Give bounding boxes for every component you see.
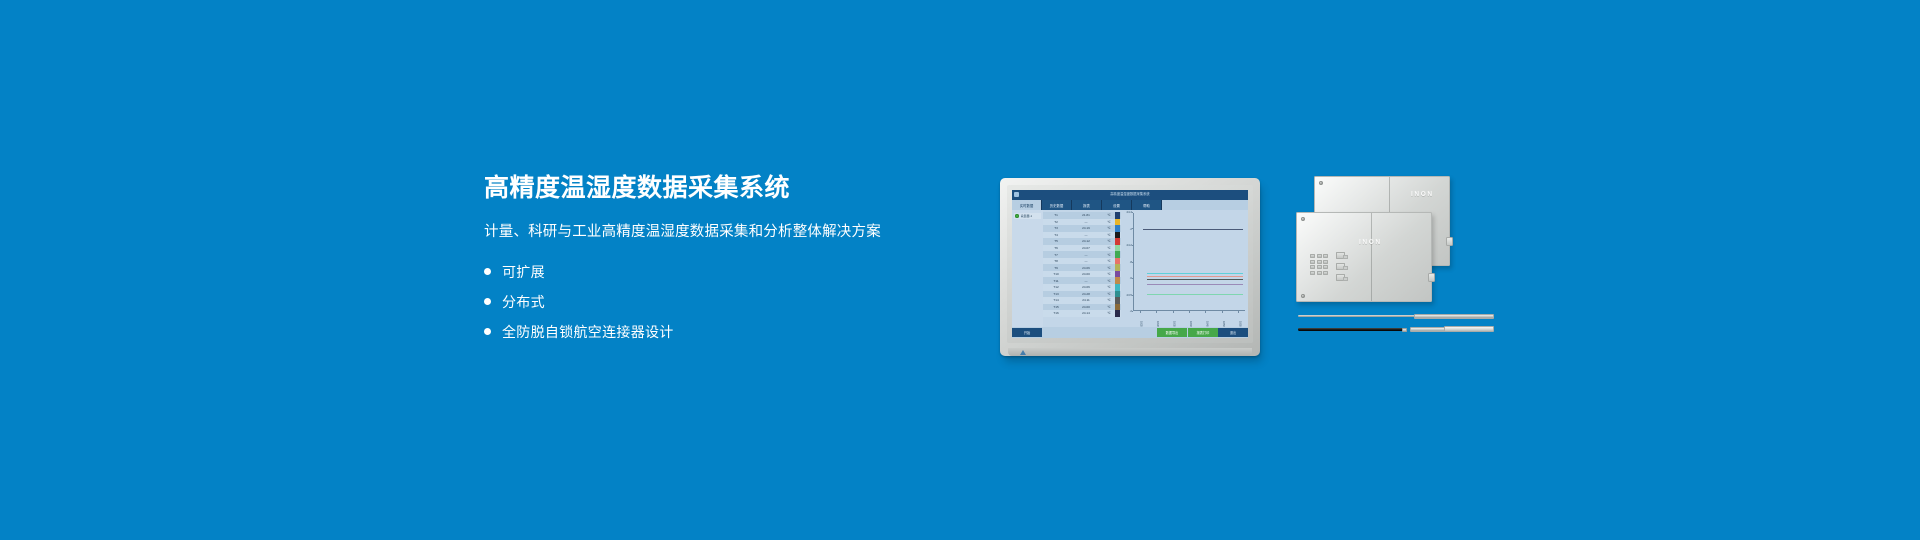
- channel-unit: ℃: [1103, 259, 1115, 263]
- feature-label: 可扩展: [502, 262, 545, 282]
- port-icon: [1317, 271, 1322, 275]
- tab-history-data[interactable]: 历史数据: [1042, 200, 1072, 210]
- module-slot-group: [1336, 252, 1345, 281]
- port-icon: [1310, 271, 1315, 275]
- chart-series-line: [1147, 279, 1242, 280]
- aviation-connector: [1410, 327, 1446, 333]
- x-axis-tick-label: 10:30: [1156, 321, 1159, 327]
- channel-name: T13: [1043, 292, 1069, 296]
- tab-help[interactable]: 帮助: [1132, 200, 1162, 210]
- sidebar-item-label: 采集器-1: [1021, 214, 1033, 218]
- chart-series-line: [1147, 284, 1242, 285]
- bottom-toolbar: 开始 数据导出 报表打印 退出: [1012, 327, 1248, 338]
- cable-temperature-probe: [1298, 326, 1494, 333]
- list-item: 可扩展: [484, 259, 954, 285]
- probe-body: [1444, 326, 1494, 332]
- port-icon: [1323, 254, 1328, 258]
- probe-strain-relief: [1402, 328, 1407, 332]
- channel-name: T8: [1043, 259, 1069, 263]
- slot-icon: [1336, 274, 1345, 281]
- channel-value: 24.12: [1069, 239, 1103, 243]
- channel-value: 24.11: [1069, 298, 1103, 302]
- module-connector: [1428, 273, 1435, 282]
- chart-y-axis: 24.4.224.2.8.623.5.2: [1121, 212, 1133, 311]
- module-port-grid: [1310, 254, 1328, 275]
- monitor-screen: 高精度温湿度数据采集系统 实时数据 历史数据 报表 设置 帮助: [1012, 190, 1248, 338]
- y-axis-tick-label: .2: [1130, 309, 1132, 313]
- page-title: 高精度温湿度数据采集系统: [484, 175, 954, 203]
- panel-pc-product-image: 高精度温湿度数据采集系统 实时数据 历史数据 报表 设置 帮助: [1000, 178, 1264, 362]
- module-screw-icon: [1301, 217, 1305, 221]
- channel-name: T1: [1043, 213, 1069, 217]
- table-row[interactable]: T1624.14℃: [1043, 310, 1121, 317]
- port-icon: [1323, 271, 1328, 275]
- feature-label: 分布式: [502, 292, 545, 312]
- probe-cable: [1298, 328, 1406, 330]
- brand-label: INON: [1359, 239, 1382, 246]
- port-icon: [1310, 265, 1315, 269]
- acquisition-module-front: INON: [1296, 212, 1432, 302]
- port-icon: [1323, 260, 1328, 264]
- x-axis-tick-label: 10:35: [1173, 321, 1176, 327]
- channel-name: T11: [1043, 279, 1069, 283]
- channel-table: T121.81℃T2---℃T324.19℃T4---℃T524.12℃T624…: [1043, 210, 1121, 327]
- rigid-temperature-probe: [1298, 313, 1494, 319]
- probe-handle: [1414, 314, 1494, 319]
- marketing-copy: 高精度温湿度数据采集系统 计量、科研与工业高精度温湿度数据采集和分析整体解决方案…: [484, 175, 954, 349]
- x-axis-tick-label: 10:45: [1205, 321, 1208, 327]
- chart-series-line: [1147, 276, 1242, 277]
- export-data-button[interactable]: 数据导出: [1157, 328, 1187, 337]
- start-button[interactable]: 开始: [1012, 328, 1042, 337]
- x-axis-tick-label: 10:25: [1140, 321, 1143, 327]
- x-axis-tick-label: 10:55: [1238, 321, 1241, 327]
- tab-report[interactable]: 报表: [1072, 200, 1102, 210]
- channel-unit: ℃: [1103, 311, 1115, 315]
- channel-value: 24.14: [1069, 311, 1103, 315]
- chart-series-line: [1147, 273, 1242, 274]
- chart-plot-area: [1133, 213, 1245, 311]
- channel-value: 24.06: [1069, 266, 1103, 270]
- port-icon: [1310, 260, 1315, 264]
- sidebar-item-collector[interactable]: 采集器-1: [1014, 213, 1041, 219]
- print-report-button[interactable]: 报表打印: [1188, 328, 1218, 337]
- port-icon: [1323, 265, 1328, 269]
- bullet-dot-icon: [484, 298, 491, 305]
- software-body: 采集器-1 T121.81℃T2---℃T324.19℃T4---℃T524.1…: [1012, 210, 1248, 327]
- y-axis-tick-label: 23.5: [1127, 293, 1132, 297]
- channel-value: 24.07: [1069, 246, 1103, 250]
- channel-value: ---: [1069, 259, 1103, 263]
- channel-value: 24.28: [1069, 292, 1103, 296]
- channel-value: ---: [1069, 220, 1103, 224]
- channel-value: 24.00: [1069, 305, 1103, 309]
- y-axis-tick-label: .8: [1130, 260, 1132, 264]
- module-screw-icon: [1319, 181, 1323, 185]
- channel-unit: ℃: [1103, 220, 1115, 224]
- channel-unit: ℃: [1103, 292, 1115, 296]
- chart-series-line: [1147, 294, 1242, 295]
- monitor-bezel-outer: 高精度温湿度数据采集系统 实时数据 历史数据 报表 设置 帮助: [1000, 178, 1260, 356]
- channel-unit: ℃: [1103, 298, 1115, 302]
- chart-series-line: [1143, 229, 1243, 230]
- chart-x-axis: 10:2510:3010:3510:4010:4510:5010:55: [1133, 311, 1245, 326]
- tab-bar-filler: [1162, 200, 1248, 210]
- channel-name: T4: [1043, 233, 1069, 237]
- y-axis-tick-label: .2: [1130, 227, 1132, 231]
- module-seam: [1371, 213, 1372, 301]
- device-tree-sidebar: 采集器-1: [1012, 210, 1043, 327]
- channel-value: 21.81: [1069, 213, 1103, 217]
- y-axis-tick-label: 24.2: [1127, 243, 1132, 247]
- y-axis-tick-label: 24.4: [1127, 210, 1132, 214]
- x-axis-tick-label: 10:40: [1189, 321, 1192, 327]
- port-icon: [1317, 265, 1322, 269]
- channel-unit: ℃: [1103, 246, 1115, 250]
- channel-unit: ℃: [1103, 253, 1115, 257]
- channel-unit: ℃: [1103, 285, 1115, 289]
- port-icon: [1317, 254, 1322, 258]
- status-online-icon: [1015, 214, 1019, 218]
- channel-unit: ℃: [1103, 213, 1115, 217]
- channel-value: ---: [1069, 279, 1103, 283]
- list-item: 全防脱自锁航空连接器设计: [484, 319, 954, 345]
- channel-name: T10: [1043, 272, 1069, 276]
- vendor-logo-icon: [1020, 350, 1026, 355]
- slot-icon: [1336, 263, 1345, 270]
- window-title: 高精度温湿度数据采集系统: [1012, 190, 1248, 199]
- channel-value: 24.00: [1069, 272, 1103, 276]
- channel-unit: ℃: [1103, 226, 1115, 230]
- channel-name: T7: [1043, 253, 1069, 257]
- port-icon: [1310, 254, 1315, 258]
- tab-bar: 实时数据 历史数据 报表 设置 帮助: [1012, 199, 1248, 210]
- channel-unit: ℃: [1103, 233, 1115, 237]
- slot-icon: [1336, 252, 1345, 259]
- channel-name: T6: [1043, 246, 1069, 250]
- x-axis-tick-label: 10:50: [1222, 321, 1225, 327]
- feature-list: 可扩展 分布式 全防脱自锁航空连接器设计: [484, 259, 954, 345]
- channel-unit: ℃: [1103, 266, 1115, 270]
- channel-unit: ℃: [1103, 239, 1115, 243]
- channel-value: ---: [1069, 233, 1103, 237]
- feature-label: 全防脱自锁航空连接器设计: [502, 322, 674, 342]
- channel-color-swatch: [1115, 310, 1120, 317]
- product-banner: 高精度温湿度数据采集系统 计量、科研与工业高精度温湿度数据采集和分析整体解决方案…: [0, 0, 1920, 540]
- monitor-chin: [1008, 348, 1252, 356]
- channel-name: T2: [1043, 220, 1069, 224]
- module-connector: [1446, 237, 1453, 246]
- channel-name: T3: [1043, 226, 1069, 230]
- channel-value: 24.06: [1069, 285, 1103, 289]
- tab-realtime-data[interactable]: 实时数据: [1012, 200, 1042, 210]
- channel-name: T14: [1043, 298, 1069, 302]
- channel-name: T12: [1043, 285, 1069, 289]
- port-icon: [1317, 260, 1322, 264]
- channel-name: T5: [1043, 239, 1069, 243]
- channel-unit: ℃: [1103, 279, 1115, 283]
- bullet-dot-icon: [484, 328, 491, 335]
- trend-chart: 24.4.224.2.8.623.5.2 10:2510:3010:3510:4…: [1121, 210, 1248, 327]
- channel-name: T15: [1043, 305, 1069, 309]
- page-subtitle: 计量、科研与工业高精度温湿度数据采集和分析整体解决方案: [484, 220, 954, 241]
- channel-value: 24.19: [1069, 226, 1103, 230]
- channel-unit: ℃: [1103, 272, 1115, 276]
- hardware-product-images: INON INON: [1296, 174, 1496, 364]
- channel-unit: ℃: [1103, 305, 1115, 309]
- brand-label: INON: [1411, 191, 1434, 198]
- tab-settings[interactable]: 设置: [1102, 200, 1132, 210]
- exit-button[interactable]: 退出: [1218, 328, 1248, 337]
- channel-name: T16: [1043, 311, 1069, 315]
- software-title-bar: 高精度温湿度数据采集系统: [1012, 190, 1248, 199]
- bullet-dot-icon: [484, 268, 491, 275]
- monitor-bezel-inner: 高精度温湿度数据采集系统 实时数据 历史数据 报表 设置 帮助: [1007, 185, 1253, 343]
- channel-name: T9: [1043, 266, 1069, 270]
- probe-stem: [1298, 315, 1418, 318]
- y-axis-tick-label: .6: [1130, 276, 1132, 280]
- module-screw-icon: [1301, 294, 1305, 298]
- channel-value: ---: [1069, 253, 1103, 257]
- list-item: 分布式: [484, 289, 954, 315]
